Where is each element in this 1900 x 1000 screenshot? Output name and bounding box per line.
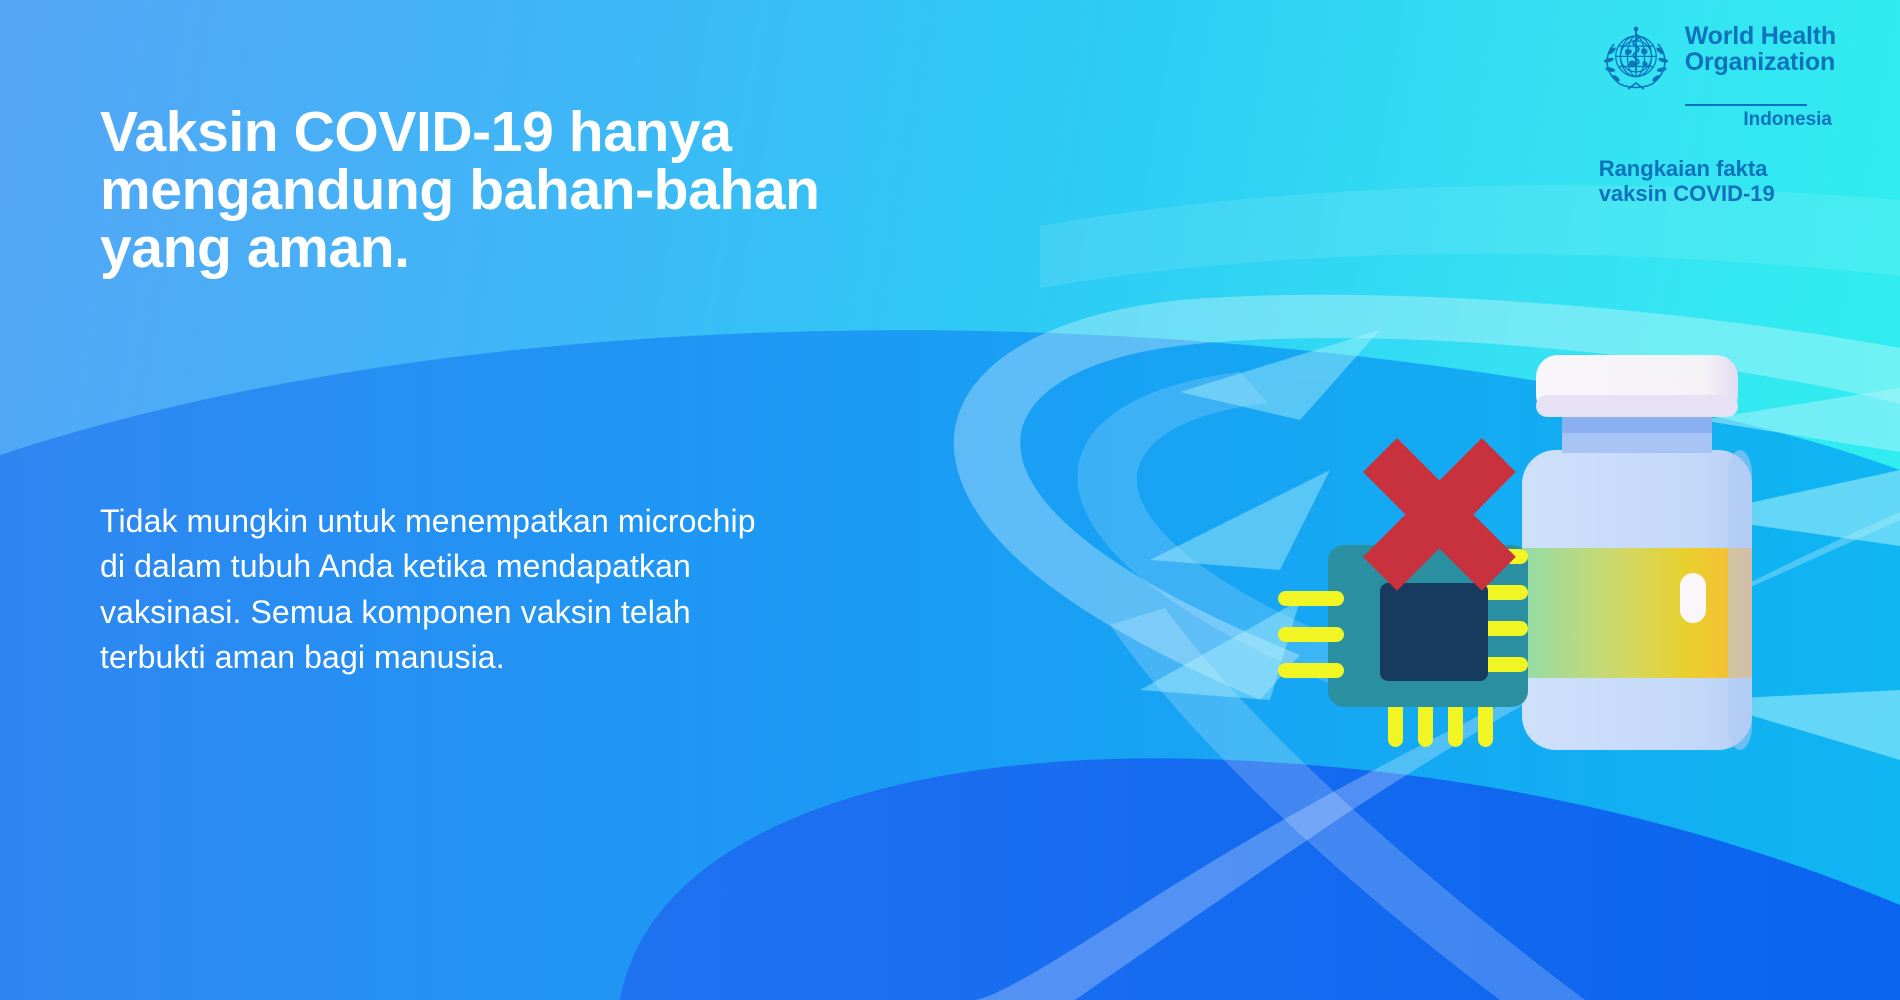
brand-tagline: Rangkaian fakta vaksin COVID-19	[1599, 157, 1836, 206]
brand-divider	[1685, 104, 1807, 106]
who-wordmark: World Health Organization	[1685, 22, 1836, 76]
poster-canvas: Vaksin COVID-19 hanya mengandung bahan-b…	[0, 0, 1900, 1000]
illustration-group	[1340, 355, 1900, 885]
vaccine-vial-illustration	[1522, 355, 1752, 750]
who-branding: World Health Organization Indonesia Rang…	[1597, 22, 1836, 206]
page-title: Vaksin COVID-19 hanya mengandung bahan-b…	[100, 103, 1030, 277]
brand-country-label: Indonesia	[1597, 109, 1832, 131]
body-paragraph: Tidak mungkin untuk menempatkan microchi…	[100, 499, 1000, 681]
who-emblem-icon	[1597, 22, 1675, 100]
who-logo-row: World Health Organization	[1597, 22, 1836, 100]
